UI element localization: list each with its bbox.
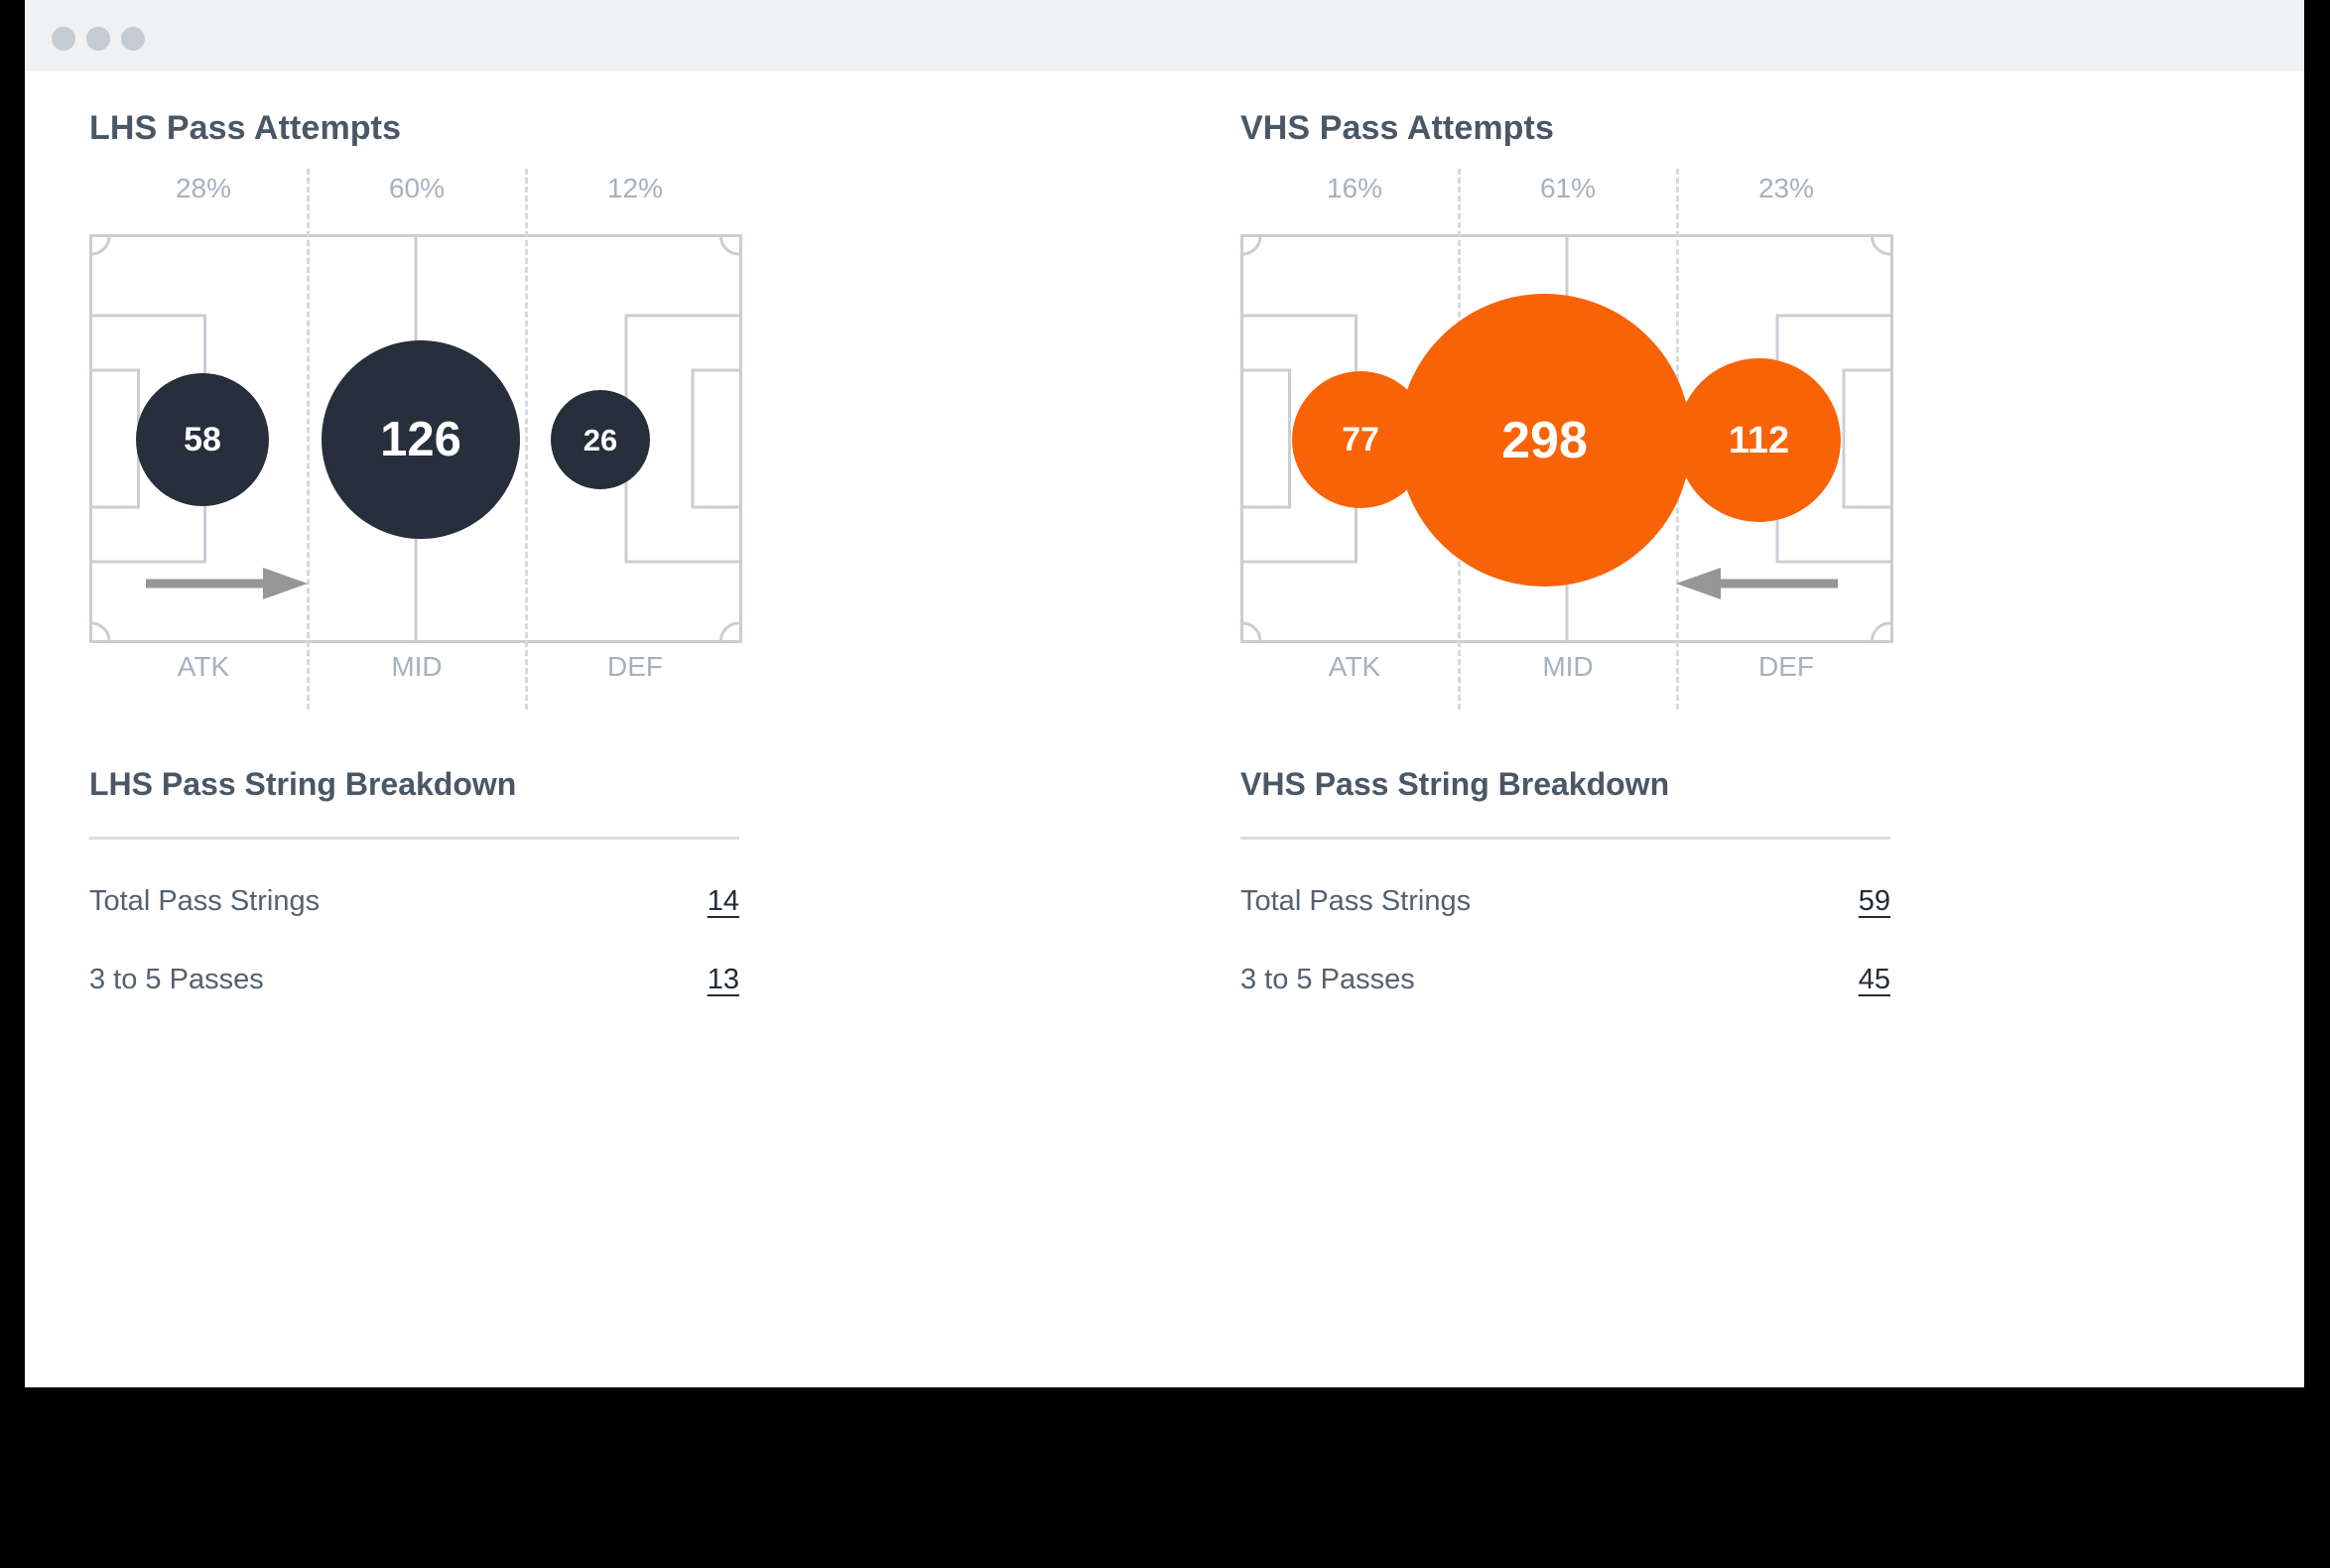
zone-label-row-vhs: ATK MID DEF	[1216, 647, 2267, 687]
panel-vhs: VHS Pass Attempts 16% 61% 23%	[1216, 71, 2267, 1387]
zone-divider-1-lhs	[307, 169, 310, 710]
page-title-lhs: LHS Pass Attempts	[89, 109, 401, 148]
breakdown-row-total-vhs: Total Pass Strings 59	[1240, 885, 1890, 918]
bubble-value-mid-vhs: 298	[1501, 415, 1588, 466]
percent-label-mid-vhs: 61%	[1469, 169, 1667, 208]
breakdown-divider-lhs	[89, 837, 739, 840]
app-window: LHS Pass Attempts 28% 60% 12%	[25, 0, 2304, 1387]
percent-label-def-lhs: 12%	[536, 169, 734, 208]
bubble-value-def-lhs: 26	[583, 425, 617, 456]
breakdown-row-three-to-five-vhs: 3 to 5 Passes 45	[1240, 964, 1890, 996]
breakdown-label-total-lhs: Total Pass Strings	[89, 885, 320, 918]
breakdown-value-total-lhs[interactable]: 14	[708, 885, 739, 918]
breakdown-label-three-to-five-vhs: 3 to 5 Passes	[1240, 964, 1415, 996]
attack-direction-arrow-left-icon	[1671, 562, 1840, 605]
percent-label-atk-vhs: 16%	[1255, 169, 1454, 208]
bubble-atk-lhs[interactable]: 58	[136, 373, 269, 506]
zone-label-row-lhs: ATK MID DEF	[65, 647, 1116, 687]
percent-label-mid-lhs: 60%	[318, 169, 516, 208]
window-titlebar	[25, 0, 2304, 71]
breakdown-title-lhs: LHS Pass String Breakdown	[89, 766, 739, 803]
breakdown-row-three-to-five-lhs: 3 to 5 Passes 13	[89, 964, 739, 996]
bubble-value-atk-lhs: 58	[184, 423, 221, 457]
traffic-light-close-icon[interactable]	[52, 27, 75, 51]
bubble-value-mid-lhs: 126	[380, 416, 461, 464]
zone-label-mid-lhs: MID	[318, 647, 516, 687]
pitch-lhs: 58 126 26	[89, 234, 1067, 643]
pitch-chart-lhs: 28% 60% 12%	[65, 169, 1116, 705]
bubble-def-lhs[interactable]: 26	[551, 390, 650, 489]
bubble-value-def-vhs: 112	[1729, 422, 1789, 459]
attack-direction-arrow-right-icon	[144, 562, 313, 605]
zone-label-def-vhs: DEF	[1687, 647, 1885, 687]
zone-label-atk-vhs: ATK	[1255, 647, 1454, 687]
breakdown-label-total-vhs: Total Pass Strings	[1240, 885, 1471, 918]
percent-label-row-lhs: 28% 60% 12%	[65, 169, 1116, 208]
bubble-mid-lhs[interactable]: 126	[322, 340, 520, 539]
percent-label-row-vhs: 16% 61% 23%	[1216, 169, 2267, 208]
pitch-chart-vhs: 16% 61% 23%	[1216, 169, 2267, 705]
breakdown-lhs: LHS Pass String Breakdown Total Pass Str…	[89, 766, 739, 996]
breakdown-value-three-to-five-lhs[interactable]: 13	[708, 964, 739, 996]
percent-label-def-vhs: 23%	[1687, 169, 1885, 208]
breakdown-divider-vhs	[1240, 837, 1890, 840]
panel-lhs: LHS Pass Attempts 28% 60% 12%	[65, 71, 1116, 1387]
breakdown-row-total-lhs: Total Pass Strings 14	[89, 885, 739, 918]
zone-label-atk-lhs: ATK	[104, 647, 303, 687]
traffic-light-maximize-icon[interactable]	[121, 27, 145, 51]
pitch-vhs: 77 298 112	[1240, 234, 2218, 643]
page-title-vhs: VHS Pass Attempts	[1240, 109, 1554, 148]
page-content: LHS Pass Attempts 28% 60% 12%	[25, 71, 2304, 1387]
breakdown-title-vhs: VHS Pass String Breakdown	[1240, 766, 1890, 803]
bubble-mid-vhs[interactable]: 298	[1398, 294, 1691, 587]
bubble-def-vhs[interactable]: 112	[1677, 358, 1841, 522]
zone-divider-2-lhs	[525, 169, 528, 710]
breakdown-value-total-vhs[interactable]: 59	[1859, 885, 1890, 918]
zone-label-mid-vhs: MID	[1469, 647, 1667, 687]
traffic-light-minimize-icon[interactable]	[86, 27, 110, 51]
zone-label-def-lhs: DEF	[536, 647, 734, 687]
percent-label-atk-lhs: 28%	[104, 169, 303, 208]
breakdown-vhs: VHS Pass String Breakdown Total Pass Str…	[1240, 766, 1890, 996]
bubble-value-atk-vhs: 77	[1342, 423, 1379, 457]
breakdown-label-three-to-five-lhs: 3 to 5 Passes	[89, 964, 264, 996]
breakdown-value-three-to-five-vhs[interactable]: 45	[1859, 964, 1890, 996]
